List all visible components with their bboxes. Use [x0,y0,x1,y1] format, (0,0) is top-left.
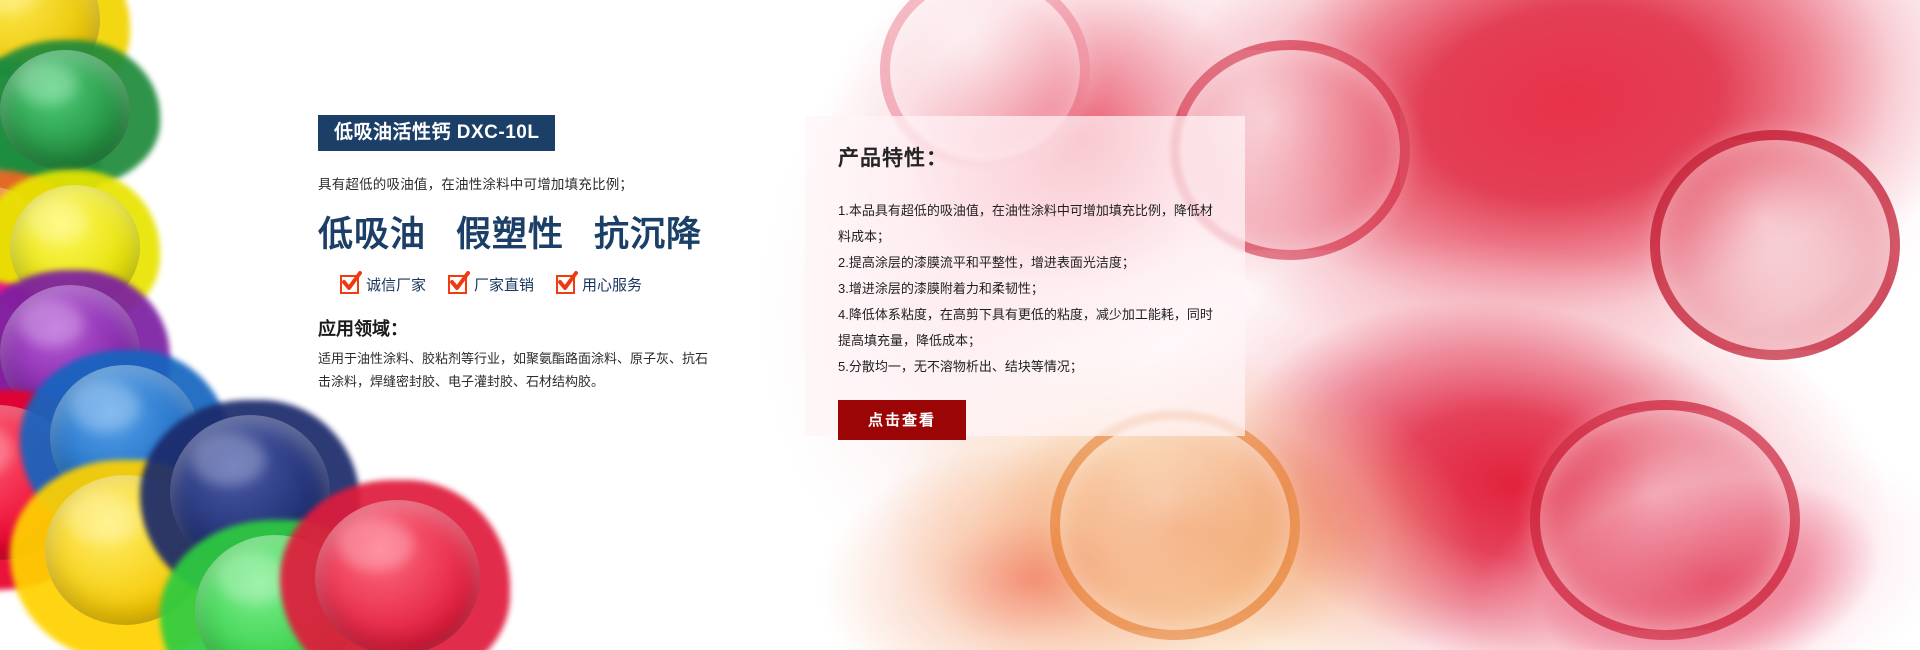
paint-dish-ring [1050,410,1300,640]
product-subtitle: 具有超低的吸油值，在油性涂料中可增加填充比例； [318,173,738,193]
application-body: 适用于油性涂料、胶粘剂等行业，如聚氨酯路面涂料、原子灰、抗石击涂料，焊缝密封胶、… [318,348,713,394]
product-title-badge: 低吸油活性钙 DXC-10L [318,115,555,151]
checkmark-icon [556,275,575,294]
left-copy-block: 低吸油活性钙 DXC-10L 具有超低的吸油值，在油性涂料中可增加填充比例； 低… [318,115,738,394]
paint-dish-ring [1530,400,1800,640]
trust-badge-item: 诚信厂家 [340,274,426,295]
trust-badge-item: 厂家直销 [448,274,534,295]
headline-word-1: 低吸油 [318,206,426,257]
checkmark-icon [448,275,467,294]
headline-keywords: 低吸油 假塑性 抗沉降 [318,206,738,257]
features-panel-title: 产品特性： [838,142,1238,172]
feature-item: 2.提高涂层的漆膜流平和平整性，增进表面光洁度； [838,250,1218,276]
trust-badge-label: 用心服务 [582,274,642,295]
trust-badges: 诚信厂家 厂家直销 用心服务 [318,274,738,295]
feature-item: 1.本品具有超低的吸油值，在油性涂料中可增加填充比例，降低材料成本； [838,198,1218,250]
feature-item: 3.增进涂层的漆膜附着力和柔韧性； [838,276,1218,302]
checkmark-icon [340,275,359,294]
trust-badge-item: 用心服务 [556,274,642,295]
trust-badge-label: 厂家直销 [474,274,534,295]
features-list: 1.本品具有超低的吸油值，在油性涂料中可增加填充比例，降低材料成本； 2.提高涂… [838,198,1218,380]
promo-banner: 低吸油活性钙 DXC-10L 具有超低的吸油值，在油性涂料中可增加填充比例； 低… [0,0,1920,650]
feature-item: 4.降低体系粘度，在高剪下具有更低的粘度，减少加工能耗，同时提高填充量，降低成本… [838,302,1218,354]
trust-badge-label: 诚信厂家 [366,274,426,295]
feature-item: 5.分散均一，无不溶物析出、结块等情况； [838,354,1218,380]
features-panel-content: 产品特性： 1.本品具有超低的吸油值，在油性涂料中可增加填充比例，降低材料成本；… [838,142,1238,440]
application-heading: 应用领域： [318,315,738,341]
view-details-button[interactable]: 点击查看 [838,400,966,440]
paint-dish-ring [1650,130,1900,360]
headline-word-3: 抗沉降 [594,206,702,257]
headline-word-2: 假塑性 [456,206,564,257]
